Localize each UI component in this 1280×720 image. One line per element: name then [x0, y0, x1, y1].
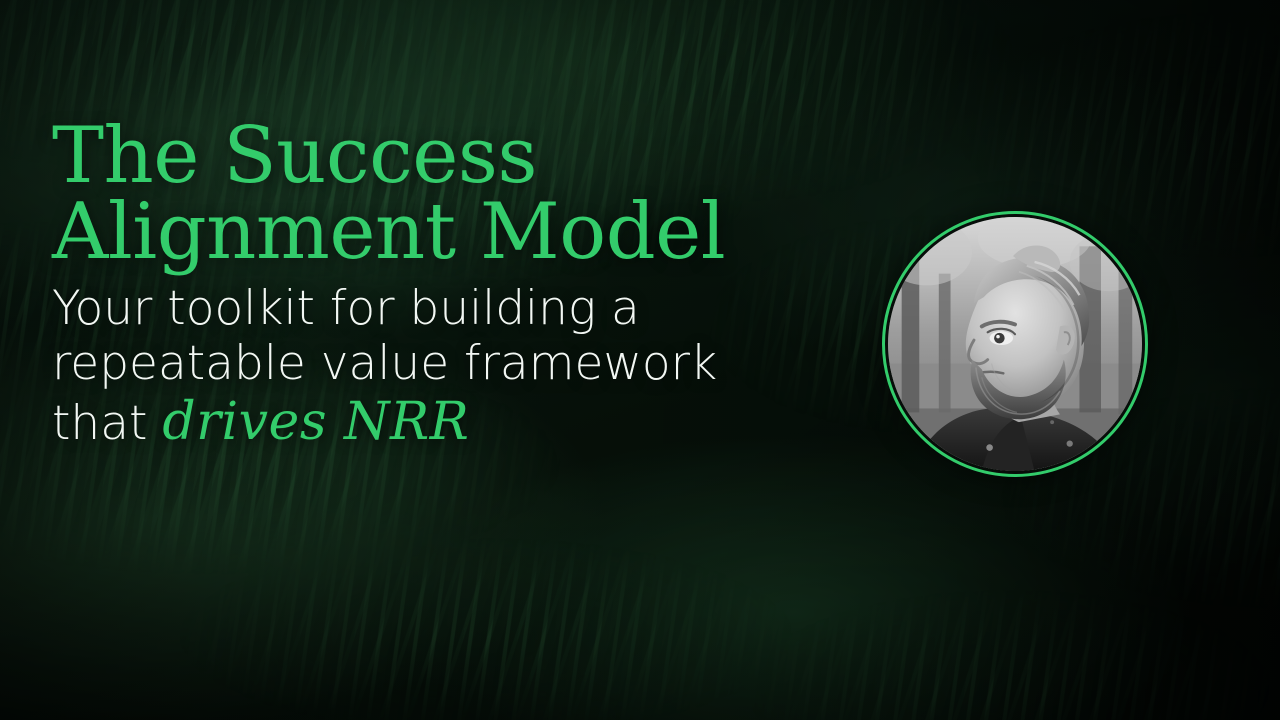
subtitle-line-2: repeatable value framework: [52, 336, 812, 391]
subtitle-line-1: Your toolkit for building a: [52, 281, 812, 336]
text-content-block: The Success Alignment Model Your toolkit…: [52, 118, 852, 453]
portrait-illustration: [888, 217, 1142, 471]
page-title: The Success Alignment Model: [52, 118, 852, 271]
avatar-photo: [888, 217, 1142, 471]
presentation-slide: The Success Alignment Model Your toolkit…: [0, 0, 1280, 720]
subtitle-line-3-prefix: that: [52, 396, 162, 451]
subtitle: Your toolkit for building a repeatable v…: [52, 281, 812, 453]
avatar: [882, 211, 1148, 477]
subtitle-accent-phrase: drives NRR: [162, 392, 469, 452]
title-line-1: The Success: [52, 118, 852, 194]
title-line-2: Alignment Model: [52, 194, 852, 270]
subtitle-line-3: that drives NRR: [52, 392, 812, 453]
